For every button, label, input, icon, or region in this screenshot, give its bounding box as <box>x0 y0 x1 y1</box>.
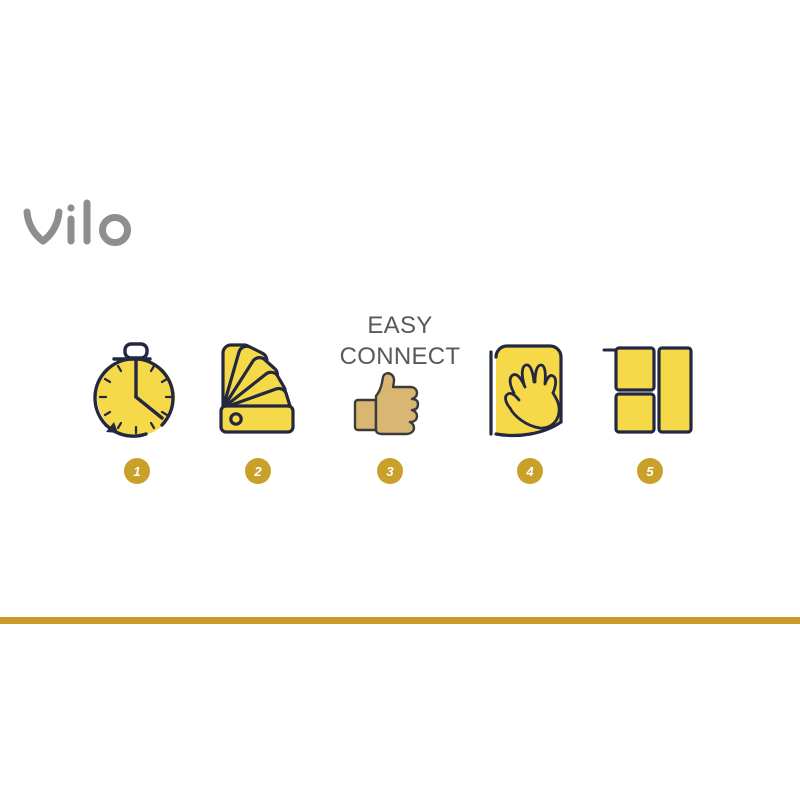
step-item-4: 4 <box>470 336 590 496</box>
feature-steps-row: 1 2 <box>0 336 800 496</box>
vilo-i-dot-icon <box>67 204 74 211</box>
panel-right-tall <box>659 348 691 432</box>
thumbs-up-icon <box>350 370 430 440</box>
step-5-badge: 5 <box>637 458 663 484</box>
step-item-2: 2 <box>198 336 318 496</box>
wall-panel-layout-icon <box>598 336 702 440</box>
bottom-accent-bar <box>0 617 800 624</box>
vilo-o-glyph-icon <box>103 218 128 243</box>
vilo-wordmark-icon <box>22 198 142 250</box>
hand-wiping-cloth-icon <box>474 336 586 440</box>
step-item-5: 5 <box>590 336 710 496</box>
step-3-icon-wrap <box>330 336 450 440</box>
step-1-badge: 1 <box>124 458 150 484</box>
step-4-icon-wrap <box>470 336 590 440</box>
step-item-1: 1 <box>77 336 197 496</box>
color-fan-deck-icon <box>206 336 310 440</box>
step-5-icon-wrap <box>590 336 710 440</box>
panel-top-left <box>616 348 654 390</box>
panel-bottom-left <box>616 394 654 432</box>
step-item-3: 3 <box>330 336 450 496</box>
step-4-badge: 4 <box>517 458 543 484</box>
brand-logo <box>22 198 142 250</box>
stopwatch-icon <box>84 336 190 440</box>
step-2-badge: 2 <box>245 458 271 484</box>
step-3-badge: 3 <box>377 458 403 484</box>
step-2-icon-wrap <box>198 336 318 440</box>
step-1-icon-wrap <box>77 336 197 440</box>
